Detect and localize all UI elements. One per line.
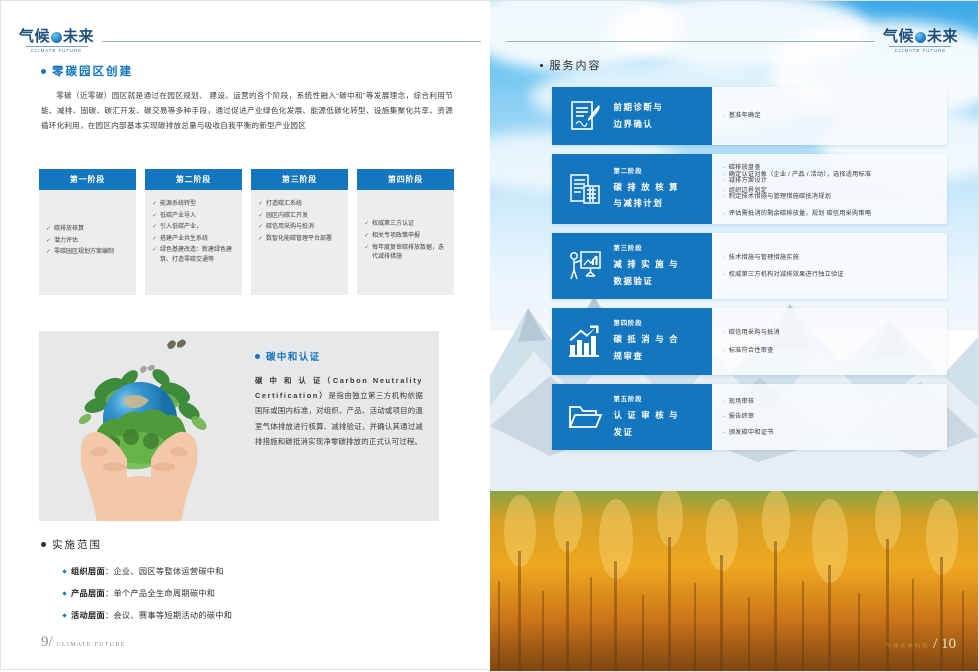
bullet-dot-icon bbox=[255, 354, 260, 359]
card-5-body: 现场审核 报告终审 颁发碳中和证书 bbox=[712, 384, 947, 450]
card-item: 颁发碳中和证书 bbox=[724, 428, 935, 438]
section-title-zero-carbon-park: 零碳园区创建 bbox=[41, 63, 133, 79]
logo-text-part2: 未来 bbox=[63, 29, 94, 44]
check-icon: ✓ bbox=[152, 246, 157, 265]
check-icon: ✓ bbox=[258, 223, 263, 233]
stage-item-label: 数智化能碳管理平台部署 bbox=[266, 235, 332, 245]
cert-body: 碳 中 和 认 证（Carbon Neutrality Certificatio… bbox=[255, 373, 423, 449]
diamond-bullet-icon bbox=[62, 591, 66, 595]
stage-3-title: 第三阶段 bbox=[251, 169, 348, 190]
bullet-dot-icon bbox=[41, 69, 46, 74]
check-icon: ✓ bbox=[152, 200, 157, 210]
card-1-title: 前期诊断与 边界确认 bbox=[614, 99, 664, 133]
folder-icon bbox=[566, 398, 604, 436]
stage-item: ✓引入低碳产业， bbox=[152, 223, 235, 233]
card-3-header: 第三阶段 减 排 实 施 与 数据验证 bbox=[552, 233, 712, 299]
service-card-1[interactable]: 前期诊断与 边界确认 基准年确定 bbox=[552, 87, 947, 145]
stage-item: ✓零碳园区规划方案编制 bbox=[46, 248, 129, 258]
scope-item-text: ：单个产品全生命周期碳中和 bbox=[105, 587, 215, 599]
stage-1-body: ✓碳排放核算 ✓潜力评估 ✓零碳园区规划方案编制 bbox=[39, 190, 136, 295]
stage-item: ✓搭建产业共生系统 bbox=[152, 235, 235, 245]
right-page: 气候 未来 CLIMATE FUTURE 服务内容 bbox=[490, 0, 979, 672]
check-icon: ✓ bbox=[364, 232, 369, 242]
stage-2-body: ✓能源系统转型 ✓低碳产业导入 ✓引入低碳产业， ✓搭建产业共生系统 ✓绿色基建… bbox=[145, 190, 242, 295]
stage-item-label: 引入低碳产业， bbox=[160, 223, 202, 233]
page-folio-right: 气候未来科技 / 10 bbox=[881, 636, 956, 653]
card-title-line1: 碳 抵 消 与 合 bbox=[614, 334, 680, 344]
card-item: 减排方案设计 bbox=[724, 176, 768, 186]
service-card-4[interactable]: 第四阶段 碳 抵 消 与 合 规审查 碳信用采购与抵消 标准符合性审查 bbox=[552, 308, 947, 374]
growth-bar-arrow-icon bbox=[566, 323, 604, 361]
card-title-line2: 数据验证 bbox=[614, 276, 654, 286]
card-5-header: 第五阶段 认 证 审 核 与 发证 bbox=[552, 384, 712, 450]
list-item: 产品层面 ：单个产品全生命周期碳中和 bbox=[63, 587, 232, 599]
cert-title-label: 碳中和认证 bbox=[266, 349, 321, 363]
scope-title-label: 实施范围 bbox=[52, 537, 102, 552]
card-5-title: 第五阶段 认 证 审 核 与 发证 bbox=[614, 394, 680, 440]
stage-item-label: 搭建产业共生系统 bbox=[160, 235, 208, 245]
stage-item: ✓绿色基建改造：新建绿色建筑、打造零碳交通等 bbox=[152, 246, 235, 265]
check-icon: ✓ bbox=[258, 200, 263, 210]
card-2-title: 第二阶段 碳 排 放 核 算 与减排计划 bbox=[614, 166, 680, 212]
logo: 气候 未来 CLIMATE FUTURE bbox=[11, 29, 102, 53]
stage-item: ✓园区内碳汇开发 bbox=[258, 212, 341, 222]
cert-title: 碳中和认证 bbox=[255, 349, 423, 363]
logo-subtitle: CLIMATE FUTURE bbox=[889, 46, 951, 53]
scope-item-label: 组织层面 bbox=[71, 565, 105, 577]
hands-earth-image bbox=[39, 331, 239, 521]
scope-item-label: 活动层面 bbox=[71, 609, 105, 621]
stage-item: ✓低碳产业导入 bbox=[152, 212, 235, 222]
stage-item: ✓潜力评估 bbox=[46, 237, 129, 247]
globe-icon bbox=[915, 32, 926, 43]
card-title-line2: 发证 bbox=[614, 427, 634, 437]
card-title-line1: 减 排 实 施 与 bbox=[614, 259, 680, 269]
card-stage-label: 第二阶段 bbox=[614, 166, 680, 179]
card-title-line1: 认 证 审 核 与 bbox=[614, 410, 680, 420]
stage-column-4: 第四阶段 ✓权威第三方认证 ✓相关专项政策申报 ✓每年度复审碳排放数据，迭代减排… bbox=[357, 169, 454, 295]
card-title-line2: 边界确认 bbox=[614, 119, 654, 129]
folio-brand-text: 气候未来科技 bbox=[885, 641, 929, 650]
card-stage-label: 第三阶段 bbox=[614, 243, 680, 256]
card-item: 报告终审 bbox=[724, 412, 935, 422]
page-folio-left: 9/ CLIMATE FUTURE bbox=[41, 634, 126, 651]
stage-item: ✓相关专项政策申报 bbox=[364, 232, 447, 242]
card-2-overlapping-text: 碳排放盘查 确定认证对象（企业 / 产品 / 活动），选择适用标准 减排方案设计… bbox=[724, 159, 935, 219]
header-rule bbox=[102, 41, 481, 42]
stage-item-label: 零碳园区规划方案编制 bbox=[54, 248, 114, 258]
card-item: 权威第三方机构对减排效果进行独立验证 bbox=[724, 270, 935, 280]
check-icon: ✓ bbox=[152, 235, 157, 245]
check-icon: ✓ bbox=[46, 225, 51, 235]
check-icon: ✓ bbox=[258, 235, 263, 245]
stage-item-label: 每年度复审碳排放数据，迭代减排措施 bbox=[372, 244, 447, 263]
logo-wordmark: 气候 未来 bbox=[19, 29, 94, 44]
stage-item: ✓碳信用采购与抵消 bbox=[258, 223, 341, 233]
stage-item: ✓碳排放核算 bbox=[46, 225, 129, 235]
list-item: 组织层面 ：企业、园区等整体运营碳中和 bbox=[63, 565, 232, 577]
left-page: 气候 未来 CLIMATE FUTURE 零碳园区创建 零碳（近零碳）园区就是通… bbox=[0, 0, 490, 670]
card-title-line2: 规审查 bbox=[614, 351, 644, 361]
scope-list: 组织层面 ：企业、园区等整体运营碳中和 产品层面 ：单个产品全生命周期碳中和 活… bbox=[63, 565, 232, 631]
check-icon: ✓ bbox=[152, 212, 157, 222]
check-icon: ✓ bbox=[46, 248, 51, 258]
card-1-header: 前期诊断与 边界确认 bbox=[552, 87, 712, 145]
check-icon: ✓ bbox=[46, 237, 51, 247]
bullet-dot-icon bbox=[540, 64, 543, 67]
check-icon: ✓ bbox=[152, 223, 157, 233]
card-item: 评估需抵消的剩余碳排放量，规划 碳信用采购策略 bbox=[724, 209, 872, 219]
calculator-ledger-icon bbox=[566, 170, 604, 208]
check-icon: ✓ bbox=[364, 220, 369, 230]
stage-item-label: 权威第三方认证 bbox=[372, 220, 414, 230]
section-title-label: 零碳园区创建 bbox=[52, 63, 133, 79]
logo-subtitle: CLIMATE FUTURE bbox=[26, 46, 88, 53]
service-content-title: 服务内容 bbox=[540, 57, 602, 73]
stage-column-1: 第一阶段 ✓碳排放核算 ✓潜力评估 ✓零碳园区规划方案编制 bbox=[39, 169, 136, 295]
stage-item-label: 绿色基建改造：新建绿色建筑、打造零碳交通等 bbox=[160, 246, 235, 265]
service-card-3[interactable]: 第三阶段 减 排 实 施 与 数据验证 技术措施与管理措施实施 权威第三方机构对… bbox=[552, 233, 947, 299]
stage-item: ✓权威第三方认证 bbox=[364, 220, 447, 230]
scope-item-label: 产品层面 bbox=[71, 587, 105, 599]
logo-text-part1: 气候 bbox=[19, 29, 50, 44]
card-2-header: 第二阶段 碳 排 放 核 算 与减排计划 bbox=[552, 154, 712, 224]
logo-wordmark: 气候 未来 bbox=[883, 29, 958, 44]
stage-2-title: 第二阶段 bbox=[145, 169, 242, 190]
card-item: 技术措施与管理措施实施 bbox=[724, 253, 935, 263]
service-cards: 前期诊断与 边界确认 基准年确定 bbox=[552, 87, 947, 459]
logo-text-part2: 未来 bbox=[927, 29, 958, 44]
card-stage-label: 第四阶段 bbox=[614, 318, 680, 331]
card-item: 基准年确定 bbox=[724, 111, 935, 121]
card-title-line2: 与减排计划 bbox=[614, 198, 664, 208]
folio-brand-text: CLIMATE FUTURE bbox=[57, 642, 126, 648]
presentation-chart-person-icon bbox=[566, 247, 604, 285]
card-stage-label: 第五阶段 bbox=[614, 394, 680, 407]
header-rule bbox=[506, 41, 875, 42]
stage-column-2: 第二阶段 ✓能源系统转型 ✓低碳产业导入 ✓引入低碳产业， ✓搭建产业共生系统 … bbox=[145, 169, 242, 295]
scope-title: 实施范围 bbox=[41, 537, 102, 552]
check-icon: ✓ bbox=[258, 212, 263, 222]
magazine-spread: 气候 未来 CLIMATE FUTURE 零碳园区创建 零碳（近零碳）园区就是通… bbox=[0, 0, 979, 670]
stage-item-label: 碳排放核算 bbox=[54, 225, 84, 235]
stage-item-label: 低碳产业导入 bbox=[160, 212, 196, 222]
stage-1-title: 第一阶段 bbox=[39, 169, 136, 190]
stage-item: ✓打造碳汇系统 bbox=[258, 200, 341, 210]
stage-item-label: 打造碳汇系统 bbox=[266, 200, 302, 210]
card-item: 现场审核 bbox=[724, 397, 935, 407]
card-title-line1: 碳 排 放 核 算 bbox=[614, 182, 680, 192]
card-item: 碳信用采购与抵消 bbox=[724, 328, 935, 338]
card-title-line1: 前期诊断与 bbox=[614, 102, 664, 112]
card-2-body: 碳排放盘查 确定认证对象（企业 / 产品 / 活动），选择适用标准 减排方案设计… bbox=[712, 154, 947, 224]
list-item: 活动层面 ：会议、赛事等短期活动的碳中和 bbox=[63, 609, 232, 621]
card-1-body: 基准年确定 bbox=[712, 87, 947, 145]
bullet-dot-icon bbox=[41, 542, 46, 547]
stage-item-label: 能源系统转型 bbox=[160, 200, 196, 210]
stage-column-3: 第三阶段 ✓打造碳汇系统 ✓园区内碳汇开发 ✓碳信用采购与抵消 ✓数智化能碳管理… bbox=[251, 169, 348, 295]
intro-paragraph: 零碳（近零碳）园区就是通过在园区规划、 建设、运营的各个阶段，系统性融入“碳中和… bbox=[41, 89, 453, 133]
stage-3-body: ✓打造碳汇系统 ✓园区内碳汇开发 ✓碳信用采购与抵消 ✓数智化能碳管理平台部署 bbox=[251, 190, 348, 295]
carbon-neutrality-cert-panel: 碳中和认证 碳 中 和 认 证（Carbon Neutrality Certif… bbox=[239, 331, 439, 521]
brand-header-left: 气候 未来 CLIMATE FUTURE bbox=[11, 29, 481, 53]
card-4-header: 第四阶段 碳 抵 消 与 合 规审查 bbox=[552, 308, 712, 374]
card-4-body: 碳信用采购与抵消 标准符合性审查 bbox=[712, 308, 947, 374]
stage-columns: 第一阶段 ✓碳排放核算 ✓潜力评估 ✓零碳园区规划方案编制 第二阶段 ✓能源系统… bbox=[39, 169, 454, 295]
document-signature-icon bbox=[566, 97, 604, 135]
stage-item-label: 园区内碳汇开发 bbox=[266, 212, 308, 222]
stage-item-label: 相关专项政策申报 bbox=[372, 232, 420, 242]
service-content-label: 服务内容 bbox=[550, 57, 602, 73]
check-icon: ✓ bbox=[364, 244, 369, 263]
card-3-body: 技术措施与管理措施实施 权威第三方机构对减排效果进行独立验证 bbox=[712, 233, 947, 299]
service-card-5[interactable]: 第五阶段 认 证 审 核 与 发证 现场审核 报告终审 颁发碳中和证书 bbox=[552, 384, 947, 450]
hands-earth-illustration bbox=[39, 331, 239, 521]
stage-4-title: 第四阶段 bbox=[357, 169, 454, 190]
brand-header-right: 气候 未来 CLIMATE FUTURE bbox=[506, 29, 966, 53]
card-item: 标准符合性审查 bbox=[724, 346, 935, 356]
stage-item: ✓每年度复审碳排放数据，迭代减排措施 bbox=[364, 244, 447, 263]
scope-item-text: ：会议、赛事等短期活动的碳中和 bbox=[105, 609, 232, 621]
stage-4-body: ✓权威第三方认证 ✓相关专项政策申报 ✓每年度复审碳排放数据，迭代减排措施 bbox=[357, 190, 454, 295]
page-number: / 10 bbox=[933, 636, 956, 653]
card-3-title: 第三阶段 减 排 实 施 与 数据验证 bbox=[614, 243, 680, 289]
logo: 气候 未来 CLIMATE FUTURE bbox=[875, 29, 966, 53]
stage-item-label: 碳信用采购与抵消 bbox=[266, 223, 314, 233]
scope-item-text: ：企业、园区等整体运营碳中和 bbox=[105, 565, 224, 577]
diamond-bullet-icon bbox=[62, 613, 66, 617]
globe-icon bbox=[51, 32, 62, 43]
stage-item-label: 潜力评估 bbox=[54, 237, 78, 247]
stage-item: ✓能源系统转型 bbox=[152, 200, 235, 210]
card-item: 制定技术措施与管理措施碳抵消规划 bbox=[724, 192, 831, 202]
logo-text-part1: 气候 bbox=[883, 29, 914, 44]
card-4-title: 第四阶段 碳 抵 消 与 合 规审查 bbox=[614, 318, 680, 364]
service-card-2[interactable]: 第二阶段 碳 排 放 核 算 与减排计划 碳排放盘查 确定认证对象（企业 / 产… bbox=[552, 154, 947, 224]
stage-item: ✓数智化能碳管理平台部署 bbox=[258, 235, 341, 245]
page-number: 9/ bbox=[41, 634, 53, 651]
diamond-bullet-icon bbox=[62, 569, 66, 573]
